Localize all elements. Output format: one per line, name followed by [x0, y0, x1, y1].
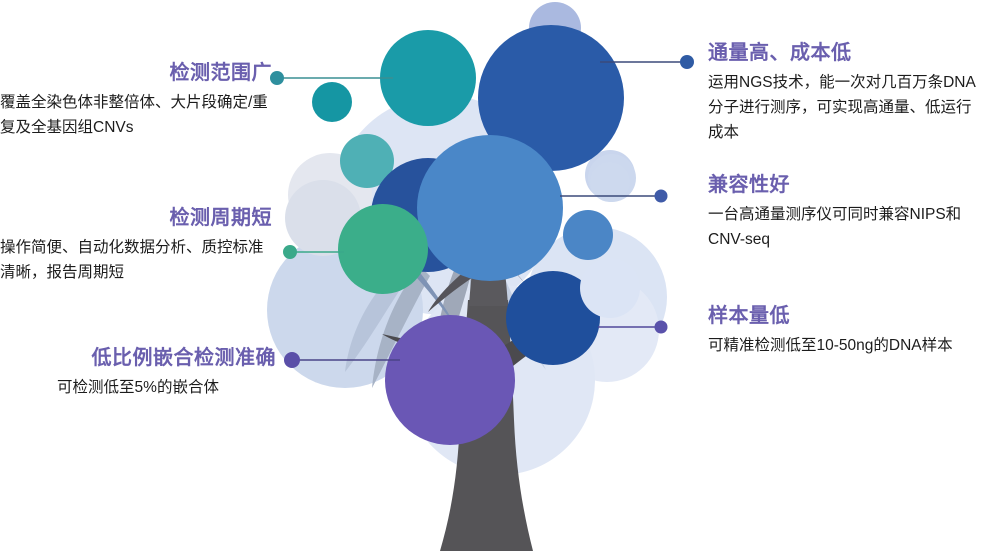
infographic-canvas: 检测范围广 覆盖全染色体非整倍体、大片段确定/重复及全基因组CNVs 检测周期短…: [0, 0, 991, 551]
callout-compat-body: 一台高通量测序仪可同时兼容NIPS和CNV-seq: [708, 202, 983, 252]
circle-teal-small: [312, 82, 352, 122]
circle-pale-botright: [580, 258, 640, 318]
connector-dot-range: [270, 71, 284, 85]
callout-range-title: 检测范围广: [0, 60, 272, 86]
callout-mosaic-title: 低比例嵌合检测准确: [0, 345, 276, 371]
connector-dot-sample: [655, 321, 668, 334]
connector-dot-compat: [655, 190, 668, 203]
circle-green: [338, 204, 428, 294]
callout-cycle-title: 检测周期短: [0, 205, 272, 231]
callout-detection-cycle: 检测周期短 操作简便、自动化数据分析、质控标准清晰，报告周期短: [0, 205, 272, 285]
callout-low-sample: 样本量低 可精准检测低至10-50ng的DNA样本: [708, 303, 983, 358]
callout-mosaic-body: 可检测低至5%的嵌合体: [0, 375, 276, 400]
callout-high-throughput: 通量高、成本低 运用NGS技术，能一次对几百万条DNA分子进行测序，可实现高通量…: [708, 40, 978, 145]
callout-throughput-body: 运用NGS技术，能一次对几百万条DNA分子进行测序，可实现高通量、低运行成本: [708, 70, 978, 145]
callout-sample-body: 可精准检测低至10-50ng的DNA样本: [708, 333, 983, 358]
circle-blue-center: [417, 135, 563, 281]
circle-purple: [385, 315, 515, 445]
callout-range-body: 覆盖全染色体非整倍体、大片段确定/重复及全基因组CNVs: [0, 90, 272, 140]
connector-dot-cycle: [283, 245, 297, 259]
callout-detection-range: 检测范围广 覆盖全染色体非整倍体、大片段确定/重复及全基因组CNVs: [0, 60, 272, 140]
callout-sample-title: 样本量低: [708, 303, 983, 329]
circle-teal-large: [380, 30, 476, 126]
callout-cycle-body: 操作简便、自动化数据分析、质控标准清晰，报告周期短: [0, 235, 272, 285]
connector-dot-throughput: [680, 55, 694, 69]
callout-mosaic-detection: 低比例嵌合检测准确 可检测低至5%的嵌合体: [0, 345, 276, 400]
callout-compatibility: 兼容性好 一台高通量测序仪可同时兼容NIPS和CNV-seq: [708, 172, 983, 252]
circle-blue-small-right: [563, 210, 613, 260]
connector-dot-mosaic: [284, 352, 300, 368]
callout-throughput-title: 通量高、成本低: [708, 40, 978, 66]
callout-compat-title: 兼容性好: [708, 172, 983, 198]
